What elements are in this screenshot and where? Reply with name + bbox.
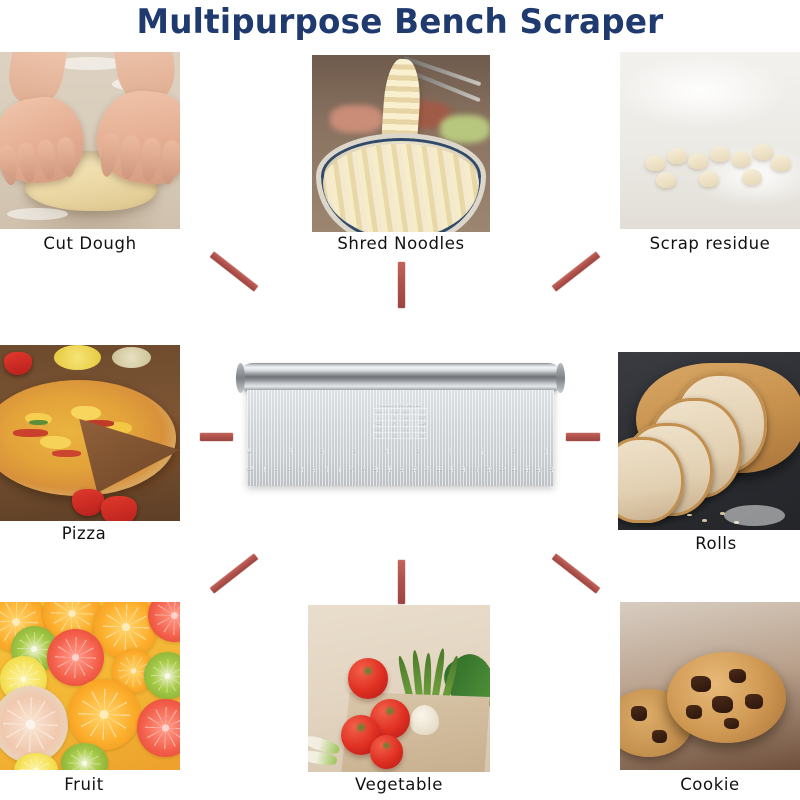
conversion-row: 1/4 24 59	[374, 433, 428, 439]
cm-tick-label: 19	[486, 467, 492, 472]
use-tile-cut-dough[interactable]	[0, 52, 180, 229]
connector-middle-right	[566, 433, 600, 441]
caption-fruit: Fruit	[0, 775, 168, 794]
cm-tick-row: 123456789101112131415161718192021222324	[238, 467, 563, 477]
use-tile-shred-noodles[interactable]	[312, 55, 490, 232]
cm-tick-label: 8	[350, 467, 353, 472]
bench-scraper-product[interactable]: Measure Conversion cup x fl oz tbsp x ml…	[238, 363, 563, 503]
cm-tick-label: 21	[511, 467, 517, 472]
page-title: Multipurpose Bench Scraper	[16, 2, 784, 42]
use-tile-fruit[interactable]	[0, 602, 180, 770]
connector-bottom-left	[210, 554, 258, 594]
caption-vegetable: Vegetable	[308, 775, 490, 794]
connector-top-right	[552, 252, 600, 292]
shred-noodles-image	[312, 55, 490, 232]
cm-tick-label: 12	[399, 467, 405, 472]
connector-bottom-center	[398, 560, 405, 604]
connector-middle-left	[200, 433, 233, 441]
use-tile-cookie[interactable]	[620, 602, 800, 770]
use-tile-pizza[interactable]	[0, 345, 180, 521]
inch-tick-label: 6	[449, 449, 452, 454]
cm-tick-label: 5	[313, 467, 316, 472]
scraper-handle	[238, 363, 563, 393]
connector-top-left	[210, 252, 258, 292]
caption-cookie: Cookie	[620, 775, 800, 794]
inch-tick-label: 3	[353, 449, 356, 454]
conversion-table-title: Measure Conversion	[373, 403, 428, 408]
scraper-handle-cap-right	[556, 363, 565, 393]
inch-tick-label: 8	[512, 449, 515, 454]
inch-tick-row: 123456789	[238, 449, 563, 459]
caption-cut-dough: Cut Dough	[0, 234, 180, 253]
cm-tick-label: 18	[474, 467, 480, 472]
cm-tick-label: 9	[363, 467, 366, 472]
cm-tick-label: 20	[499, 467, 505, 472]
inch-tick-label: 2	[321, 449, 324, 454]
rolls-image	[618, 352, 800, 530]
cm-tick-label: 13	[411, 467, 417, 472]
cm-tick-label: 7	[338, 467, 341, 472]
cm-tick-label: 2	[275, 467, 278, 472]
cm-tick-label: 11	[386, 467, 392, 472]
cm-tick-label: 16	[449, 467, 455, 472]
scrap-residue-image	[620, 52, 800, 229]
inch-tick-label: 5	[417, 449, 420, 454]
cm-tick-label: 10	[374, 467, 380, 472]
conversion-table: cup x fl oz tbsp x ml 1 816 237 1/2 48 1…	[373, 408, 428, 439]
cm-tick-label: 17	[461, 467, 467, 472]
cm-tick-label: 1	[263, 467, 266, 472]
cm-tick-label: 6	[325, 467, 328, 472]
inch-ruler: IN 123456789	[238, 449, 563, 461]
caption-pizza: Pizza	[0, 524, 168, 543]
cm-tick-label: 3	[288, 467, 291, 472]
infographic-root: Multipurpose Bench Scraper Cut Dough	[0, 0, 800, 800]
cookie-image	[620, 602, 800, 770]
scraper-handle-cap-left	[236, 363, 245, 393]
fruit-image	[0, 602, 180, 770]
connector-top-center	[398, 262, 405, 308]
use-tile-rolls[interactable]	[618, 352, 800, 530]
cm-tick-label: 4	[300, 467, 303, 472]
pizza-image	[0, 345, 180, 521]
connector-bottom-right	[552, 554, 600, 594]
cut-dough-image	[0, 52, 180, 229]
use-tile-vegetable[interactable]	[308, 605, 490, 772]
inch-tick-label: 4	[385, 449, 388, 454]
inch-tick-label: 1	[290, 449, 293, 454]
caption-rolls: Rolls	[632, 534, 800, 553]
use-tile-scrap-residue[interactable]	[620, 52, 800, 229]
caption-scrap-residue: Scrap residue	[620, 234, 800, 253]
cm-ruler: CM 1234567891011121314151617181920212223…	[238, 467, 563, 479]
inch-tick-label: 9	[544, 449, 547, 454]
cm-tick-label: 22	[524, 467, 530, 472]
measure-conversion-engraving: Measure Conversion cup x fl oz tbsp x ml…	[373, 403, 428, 439]
cm-tick-label: 24	[549, 467, 555, 472]
cm-tick-label: 23	[537, 467, 543, 472]
vegetable-image	[308, 605, 490, 772]
cm-tick-label: 14	[424, 467, 430, 472]
cm-tick-label: 15	[436, 467, 442, 472]
inch-tick-label: 7	[481, 449, 484, 454]
caption-shred-noodles: Shred Noodles	[312, 234, 490, 253]
